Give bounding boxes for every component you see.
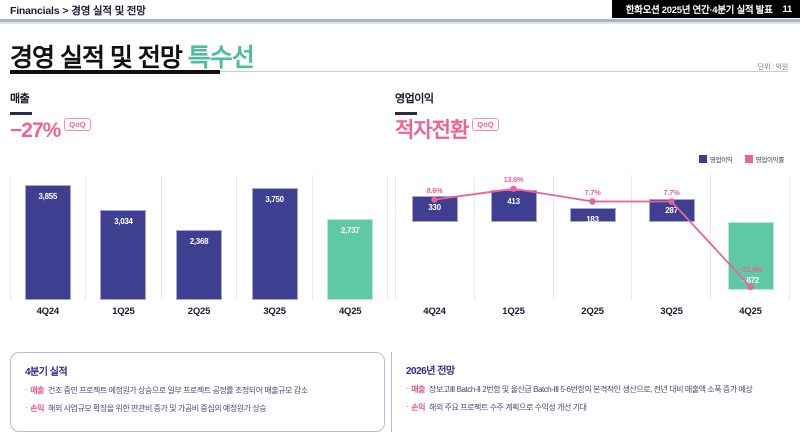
bar-column: −872 (711, 175, 790, 300)
margin-value-label: 8.6% (427, 186, 443, 195)
page-title: 경영 실적 및 전망 특수선 (10, 38, 254, 74)
bullet-dot-icon: · (25, 385, 27, 395)
bar-column: 2,368 (161, 175, 237, 300)
note-left-lines: ·매출건조 중인 프로젝트 예정원가 상승으로 일부 프로젝트 공정률 조정되어… (11, 385, 384, 414)
revenue-bar-columns: 3,8553,0342,3683,7502,737 (10, 175, 388, 300)
bullet-dot-icon: · (25, 403, 27, 413)
note-bullet-row: ·손익해외 주요 프로젝트 수주 계획으로 수익성 개선 기대 (406, 402, 790, 413)
breadcrumb: Financials>경영 실적 및 전망 (10, 3, 146, 18)
revenue-divider (10, 112, 32, 115)
bar-column: 3,034 (86, 175, 162, 300)
breadcrumb-root[interactable]: Financials (10, 5, 59, 17)
note-box-q4-results: 4분기 실적 ·매출건조 중인 프로젝트 예정원가 상승으로 일부 프로젝트 공… (10, 352, 385, 432)
legend-item: 영업이익률 (745, 154, 784, 164)
note-left-heading: 4분기 실적 (25, 363, 384, 378)
revenue-delta-row: −27% QoQ (10, 120, 388, 141)
note-bullet-text: 해외 주요 프로젝트 수주 계획으로 수익성 개선 기대 (429, 402, 587, 413)
legend-label: 영업이익 (710, 154, 733, 164)
margin-value-label: 7.7% (664, 188, 680, 197)
bar-value-label: 2,737 (328, 226, 372, 235)
bar-column: 3,855 (10, 175, 86, 300)
op-x-axis: 4Q241Q252Q253Q254Q25 (395, 306, 790, 317)
breadcrumb-leaf[interactable]: 경영 실적 및 전망 (71, 5, 145, 17)
bar[interactable]: 2,368 (176, 230, 222, 300)
page-number: 11 (783, 4, 792, 15)
axis-tick-label: 4Q25 (312, 306, 388, 317)
operating-profit-chart-panel: 영업이익 적자전환 QoQ 영업이익영업이익률 330413183287−872… (395, 90, 790, 340)
axis-tick-label: 2Q25 (553, 306, 632, 317)
bar-value-label: −872 (729, 276, 773, 285)
revenue-x-axis: 4Q241Q252Q253Q254Q25 (10, 306, 388, 317)
bar[interactable]: 3,750 (252, 188, 298, 300)
note-bullet-tag: 손익 (30, 403, 44, 414)
note-bullet-tag: 매출 (411, 384, 425, 395)
note-right-heading: 2026년 전망 (406, 362, 790, 377)
axis-tick-label: 1Q25 (474, 306, 553, 317)
bar[interactable]: 413 (491, 190, 537, 222)
bar-value-label: 2,368 (177, 237, 221, 246)
revenue-metric-label: 매출 (10, 90, 388, 106)
legend-swatch (745, 155, 753, 163)
op-qoq-badge: QoQ (472, 118, 498, 132)
revenue-qoq-badge: QoQ (64, 118, 90, 132)
bar[interactable]: 2,737 (327, 219, 373, 300)
bar[interactable]: 3,034 (100, 210, 146, 300)
op-metric-label: 영업이익 (395, 90, 790, 106)
revenue-chart-panel: 매출 −27% QoQ 3,8553,0342,3683,7502,737 4Q… (10, 90, 388, 340)
legend-swatch (699, 155, 707, 163)
axis-tick-label: 3Q25 (237, 306, 313, 317)
bar-value-label: 3,034 (101, 217, 145, 226)
bar-column: 2,737 (312, 175, 388, 300)
bar-value-label: 183 (571, 215, 615, 224)
bullet-dot-icon: · (406, 384, 408, 394)
note-bullet-row: ·매출건조 중인 프로젝트 예정원가 상승으로 일부 프로젝트 공정률 조정되어… (25, 385, 384, 396)
bar-value-label: 3,855 (26, 192, 70, 201)
page-title-main: 경영 실적 및 전망 (10, 44, 182, 72)
note-bullet-row: ·매출장보고Ⅲ Batch-Ⅱ 2번함 및 울산급 Batch-Ⅲ 5·6번함의… (406, 384, 790, 395)
note-bullet-text: 해외 사업규모 확장을 위한 판관비 증가 및 가공비 중심의 예정원가 상승 (48, 403, 266, 414)
op-delta-value: 적자전환 (395, 120, 468, 141)
bar[interactable]: −872 (728, 222, 774, 290)
note-bullet-text: 건조 중인 프로젝트 예정원가 상승으로 일부 프로젝트 공정률 조정되어 매출… (48, 385, 308, 396)
op-divider (395, 112, 417, 115)
bar-value-label: 330 (413, 203, 457, 212)
margin-value-label: −31.9% (739, 265, 763, 274)
note-box-2026-outlook: 2026년 전망 ·매출장보고Ⅲ Batch-Ⅱ 2번함 및 울산급 Batch… (391, 352, 790, 432)
title-underline-extension (220, 71, 788, 72)
axis-tick-label: 2Q25 (161, 306, 237, 317)
bar-value-label: 413 (492, 197, 536, 206)
note-bullet-tag: 매출 (30, 385, 44, 396)
company-title-bar: 한화오션 2025년 연간·4분기 실적 발표 11 (612, 0, 800, 18)
operating-profit-plot-area: 330413183287−872 8.6%13.6%7.7%7.7%−31.9% (395, 175, 790, 300)
bar[interactable]: 287 (649, 199, 695, 221)
axis-tick-label: 4Q25 (711, 306, 790, 317)
bar[interactable]: 330 (412, 196, 458, 222)
note-bullet-row: ·손익해외 사업규모 확장을 위한 판관비 증가 및 가공비 중심의 예정원가 … (25, 403, 384, 414)
bullet-dot-icon: · (406, 402, 408, 412)
legend-label: 영업이익률 (756, 154, 784, 164)
axis-tick-label: 3Q25 (632, 306, 711, 317)
margin-value-label: 7.7% (585, 188, 601, 197)
op-delta-row: 적자전환 QoQ (395, 120, 790, 141)
bar-column: 3,750 (237, 175, 313, 300)
company-title-text: 한화오션 2025년 연간·4분기 실적 발표 (626, 2, 773, 16)
slide-root: Financials>경영 실적 및 전망 한화오션 2025년 연간·4분기 … (0, 0, 800, 445)
unit-label: 단위 : 억원 (758, 62, 788, 72)
revenue-delta-value: −27% (10, 120, 60, 141)
axis-tick-label: 4Q24 (395, 306, 474, 317)
header-rule-secondary (0, 22, 800, 24)
operating-profit-legend: 영업이익영업이익률 (699, 154, 784, 164)
bar[interactable]: 183 (570, 208, 616, 222)
legend-item: 영업이익 (699, 154, 733, 164)
note-bullet-tag: 손익 (411, 402, 425, 413)
note-right-lines: ·매출장보고Ⅲ Batch-Ⅱ 2번함 및 울산급 Batch-Ⅲ 5·6번함의… (392, 384, 790, 413)
breadcrumb-separator-icon: > (62, 5, 68, 17)
margin-value-label: 13.6% (504, 175, 524, 184)
revenue-plot-area: 3,8553,0342,3683,7502,737 (10, 175, 388, 300)
axis-tick-label: 4Q24 (10, 306, 86, 317)
bar-column: 413 (474, 175, 553, 300)
bar-value-label: 287 (650, 206, 694, 215)
page-title-accent: 특수선 (188, 44, 254, 72)
bar[interactable]: 3,855 (25, 185, 71, 300)
title-underline (10, 70, 220, 74)
axis-tick-label: 1Q25 (86, 306, 162, 317)
note-bullet-text: 장보고Ⅲ Batch-Ⅱ 2번함 및 울산급 Batch-Ⅲ 5·6번함의 본격… (429, 384, 752, 395)
bar-value-label: 3,750 (253, 195, 297, 204)
